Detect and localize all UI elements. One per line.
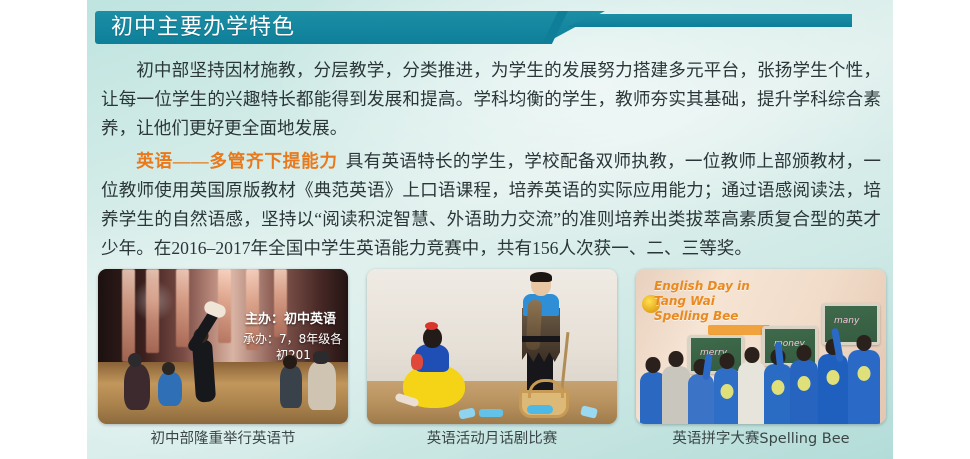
- stage-light-strip: [146, 269, 159, 353]
- student-badge: [721, 384, 734, 399]
- stage-light-strip: [176, 269, 189, 347]
- banner-line-2: Tang Wai: [654, 294, 782, 309]
- snow-white-hair-bow: [425, 322, 438, 330]
- student-figure: [738, 362, 766, 424]
- banner-line-1: English Day in: [654, 279, 782, 294]
- gallery-item-2: 英语活动月话剧比赛: [367, 269, 617, 451]
- page-root: 初中主要办学特色 初中部坚持因材施教，分层教学，分类推进，为学生的发展努力搭建多…: [0, 0, 970, 459]
- gallery-caption-2: 英语活动月话剧比赛: [367, 430, 617, 449]
- banner-subtitle-strip: [708, 325, 770, 335]
- student-figure: [764, 364, 792, 424]
- student-figure: [818, 354, 848, 424]
- student-figure: [280, 366, 302, 408]
- paragraph-lead-label: 英语——多管齐下提能力: [136, 151, 338, 171]
- student-figure: [124, 364, 150, 410]
- student-figure: [790, 360, 818, 424]
- photo-gallery: 主办：初中英语 承办：7，8年级各 初201 初中部隆重举行英语节: [98, 269, 888, 451]
- section-header: 初中主要办学特色: [87, 0, 893, 52]
- hunter-fur-sash: [526, 300, 543, 351]
- student-figure: [714, 368, 740, 424]
- student-badge: [772, 380, 785, 395]
- stage-light-strip: [122, 269, 135, 362]
- screen-text-host: 承办：7，8年级各: [243, 330, 342, 347]
- gallery-caption-1: 初中部隆重举行英语节: [98, 430, 348, 449]
- paragraph-english: 英语——多管齐下提能力具有英语特长的学生，学校配备双师执教，一位教师上部颁教材，…: [101, 147, 881, 263]
- content-panel: 初中主要办学特色 初中部坚持因材施教，分层教学，分类推进，为学生的发展努力搭建多…: [87, 0, 893, 459]
- student-badge: [858, 366, 871, 381]
- student-figure: [158, 372, 182, 406]
- article-body: 初中部坚持因材施教，分层教学，分类推进，为学生的发展努力搭建多元平台，张扬学生个…: [101, 56, 881, 267]
- photo-drama-contest[interactable]: [367, 269, 617, 424]
- photo-spelling-bee[interactable]: English Day in Tang Wai Spelling Bee mer…: [636, 269, 886, 424]
- student-badge: [827, 370, 840, 385]
- photo-english-festival[interactable]: 主办：初中英语 承办：7，8年级各 初201: [98, 269, 348, 424]
- student-figure: [662, 366, 690, 424]
- hunter-hair: [530, 272, 552, 282]
- gallery-caption-3: 英语拼字大赛Spelling Bee: [636, 430, 886, 449]
- student-figure: [848, 350, 880, 424]
- header-bar-tail: [567, 14, 852, 27]
- hall-wall: [367, 269, 617, 381]
- snow-white-head: [423, 327, 442, 348]
- page-title: 初中主要办学特色: [111, 13, 295, 43]
- blackboard-word: many: [834, 316, 859, 326]
- gallery-item-1: 主办：初中英语 承办：7，8年级各 初201 初中部隆重举行英语节: [98, 269, 348, 451]
- paragraph-overview: 初中部坚持因材施教，分层教学，分类推进，为学生的发展努力搭建多元平台，张扬学生个…: [101, 56, 881, 143]
- student-badge: [798, 376, 811, 391]
- stage-prop: [479, 409, 503, 417]
- student-figure: [688, 374, 714, 424]
- event-banner: English Day in Tang Wai Spelling Bee: [654, 279, 782, 327]
- screen-text-organizer: 主办：初中英语: [245, 308, 336, 327]
- snow-white-sleeve: [411, 354, 423, 370]
- student-figure: [308, 362, 336, 410]
- hunter-belt: [522, 336, 560, 342]
- gallery-item-3: English Day in Tang Wai Spelling Bee mer…: [636, 269, 886, 451]
- banner-line-3: Spelling Bee: [654, 309, 782, 324]
- hunter-shoes: [527, 405, 553, 414]
